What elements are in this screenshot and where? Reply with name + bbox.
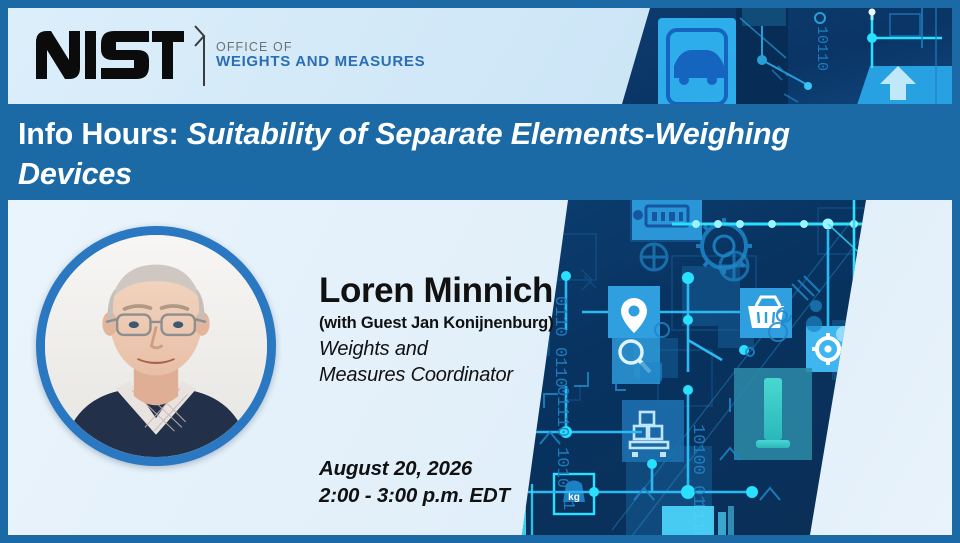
body-area: kg <box>8 200 952 535</box>
header-band: OFFICE OF WEIGHTS AND MEASURES <box>8 8 952 104</box>
speaker-name: Loren Minnich <box>319 272 619 309</box>
event-datetime: August 20, 2026 2:00 - 3:00 p.m. EDT <box>319 455 510 509</box>
speaker-role-line2: Measures Coordinator <box>319 363 619 389</box>
speaker-role: Weights and Measures Coordinator <box>319 337 619 388</box>
speaker-info: Loren Minnich (with Guest Jan Konijnenbu… <box>319 272 619 388</box>
webinar-poster: OFFICE OF WEIGHTS AND MEASURES <box>0 0 960 543</box>
svg-text:1: 1 <box>558 500 577 510</box>
svg-text:10110: 10110 <box>813 26 830 71</box>
nist-logo-icon <box>34 27 184 81</box>
avatar <box>36 226 276 466</box>
header-circuit-art: 10110 <box>622 8 952 104</box>
title-band: Info Hours: Suitability of Separate Elem… <box>0 104 960 196</box>
page-title: Info Hours: Suitability of Separate Elem… <box>18 115 898 194</box>
logo-wordmark-text: OFFICE OF WEIGHTS AND MEASURES <box>216 38 425 71</box>
logo-divider <box>192 24 210 84</box>
speaker-role-line1: Weights and <box>319 337 619 363</box>
weights-and-measures-label: WEIGHTS AND MEASURES <box>216 54 425 71</box>
speaker-guest: (with Guest Jan Konijnenburg) <box>319 314 619 333</box>
nist-owm-logo: OFFICE OF WEIGHTS AND MEASURES <box>34 24 425 84</box>
event-date: August 20, 2026 <box>319 455 510 482</box>
svg-text:10100 01: 10100 01 <box>688 424 707 506</box>
event-time: 2:00 - 3:00 p.m. EDT <box>319 482 510 509</box>
title-prefix: Info Hours: <box>18 117 187 151</box>
speaker-headshot-icon <box>45 235 267 457</box>
header-tech-graphic: 10110 <box>622 8 952 104</box>
office-of-label: OFFICE OF <box>216 40 425 54</box>
